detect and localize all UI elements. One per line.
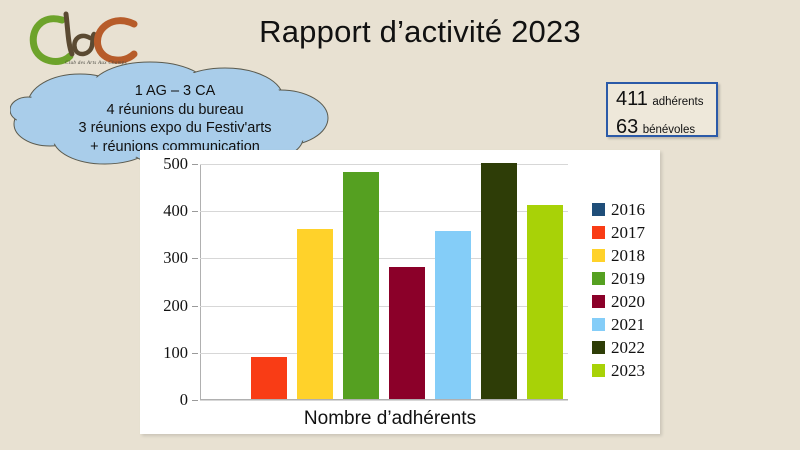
legend-swatch-2017 [592,226,605,239]
legend-item-2018[interactable]: 2018 [592,244,672,267]
bar-2023[interactable] [527,205,564,399]
stats-row-benevoles: 63 bénévoles [616,115,710,143]
legend-label-2022: 2022 [611,338,645,358]
page-title: Rapport d’activité 2023 [180,14,660,50]
y-tick-label: 500 [163,154,188,174]
bar-slot-2020[interactable] [384,163,430,399]
bar-2018[interactable] [297,229,334,399]
bar-slot-2018[interactable] [292,163,338,399]
legend-swatch-2018 [592,249,605,262]
legend-item-2019[interactable]: 2019 [592,267,672,290]
legend-label-2016: 2016 [611,200,645,220]
legend-item-2017[interactable]: 2017 [592,221,672,244]
legend-label-2018: 2018 [611,246,645,266]
legend-item-2021[interactable]: 2021 [592,313,672,336]
legend-swatch-2022 [592,341,605,354]
legend-label-2023: 2023 [611,361,645,381]
bar-2021[interactable] [435,231,472,400]
benevoles-count: 63 [616,116,638,138]
cloud-line-1: 1 AG – 3 CA [10,82,340,101]
y-tick-label: 100 [163,343,188,363]
cloud-text: 1 AG – 3 CA 4 réunions du bureau 3 réuni… [10,82,340,156]
gridline [200,400,568,401]
legend-label-2017: 2017 [611,223,645,243]
legend-label-2019: 2019 [611,269,645,289]
bar-series [200,163,568,399]
legend-swatch-2019 [592,272,605,285]
bar-slot-2022[interactable] [476,163,522,399]
stats-box: 411 adhérents 63 bénévoles [606,82,718,137]
y-tick [192,400,198,401]
cloud-line-3: 3 réunions expo du Festiv'arts [10,119,340,138]
y-tick [192,306,198,307]
chart-panel: 0100200300400500 Nombre d’adhérents [140,150,660,434]
legend-item-2016[interactable]: 2016 [592,198,672,221]
y-tick [192,211,198,212]
bar-2017[interactable] [251,357,288,399]
y-tick [192,353,198,354]
legend-label-2020: 2020 [611,292,645,312]
legend-swatch-2016 [592,203,605,216]
bar-slot-2021[interactable] [430,163,476,399]
bar-slot-2017[interactable] [246,163,292,399]
y-tick-label: 0 [180,390,188,410]
legend-label-2021: 2021 [611,315,645,335]
y-tick-label: 300 [163,248,188,268]
chart-legend: 20162017201820192020202120222023 [592,198,672,382]
bar-2019[interactable] [343,172,380,399]
legend-swatch-2020 [592,295,605,308]
y-tick-label: 200 [163,296,188,316]
stats-row-adherents: 411 adhérents [616,87,710,115]
legend-item-2020[interactable]: 2020 [592,290,672,313]
bar-2022[interactable] [481,163,518,399]
benevoles-label: bénévoles [643,124,695,136]
adherents-count: 411 [616,88,648,110]
legend-swatch-2023 [592,364,605,377]
plot-area: 0100200300400500 [200,164,568,400]
bar-slot-2016[interactable] [200,163,246,399]
x-axis-caption: Nombre d’adhérents [180,408,600,430]
legend-swatch-2021 [592,318,605,331]
cloud-line-2: 4 réunions du bureau [10,101,340,120]
bar-slot-2023[interactable] [522,163,568,399]
legend-item-2023[interactable]: 2023 [592,359,672,382]
adherents-label: adhérents [652,96,703,108]
y-tick [192,258,198,259]
legend-item-2022[interactable]: 2022 [592,336,672,359]
bar-slot-2019[interactable] [338,163,384,399]
y-tick-label: 400 [163,201,188,221]
bar-2020[interactable] [389,267,426,399]
y-tick [192,164,198,165]
slide-canvas: Club des Arts Aux Champs Rapport d’activ… [0,0,800,450]
